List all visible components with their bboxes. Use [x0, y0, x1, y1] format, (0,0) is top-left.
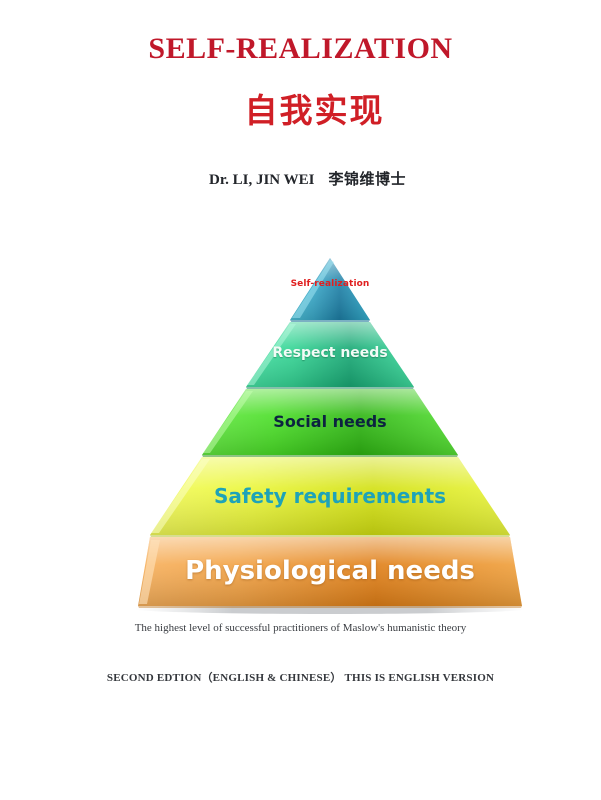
page-title-chinese: 自我实现: [0, 84, 601, 132]
pyramid-level-safety-requirements: [150, 457, 510, 539]
author-name-chinese: 李锦维博士: [328, 170, 406, 188]
pyramid-level-respect-needs: [246, 322, 414, 391]
pyramid-caption: The highest level of successful practiti…: [0, 622, 601, 634]
pyramid-level-physiological-needs: [138, 537, 522, 608]
pyramid-level-social-needs: [202, 389, 458, 459]
maslow-pyramid-diagram: Self-realization Respect needs Social ne…: [120, 250, 540, 622]
page-title-english: SELF-REALIZATION: [0, 32, 601, 66]
book-cover: SELF-REALIZATION 自我实现 Dr. LI, JIN WEI李锦维…: [0, 0, 601, 800]
pyramid-level-self-realization: [290, 258, 370, 323]
pyramid-graphic: [120, 250, 540, 622]
author-byline: Dr. LI, JIN WEI李锦维博士: [0, 168, 601, 189]
author-name-english: Dr. LI, JIN WEI: [209, 172, 314, 188]
edition-note: SECOND EDTION（ENGLISH & CHINESE） THIS IS…: [0, 669, 601, 685]
